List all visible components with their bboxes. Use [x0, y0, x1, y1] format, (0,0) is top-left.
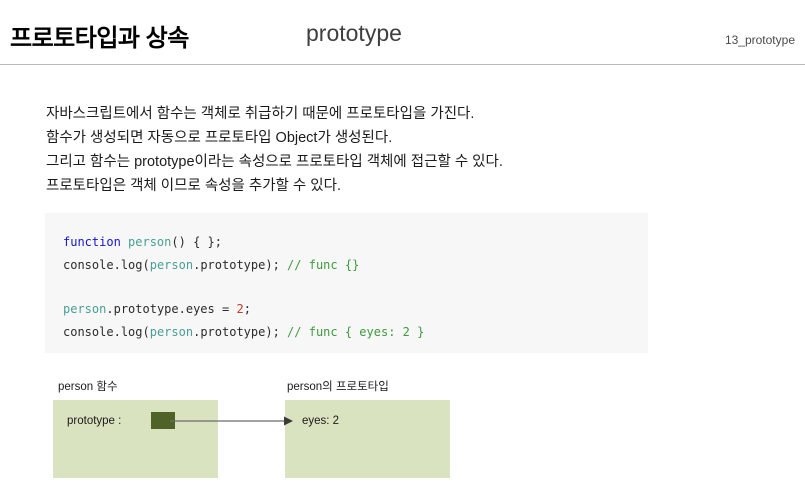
slide-header: 프로토타입과 상속 prototype 13_prototype — [0, 0, 805, 65]
body-text-block: 자바스크립트에서 함수는 객체로 취급하기 때문에 프로토타입을 가진다. 함수… — [46, 102, 726, 198]
code-token-console: console — [63, 258, 114, 272]
code-token-dot: . — [179, 302, 186, 316]
code-token-dot: . — [106, 302, 113, 316]
code-token-property: eyes — [186, 302, 215, 316]
code-token-log: log — [121, 258, 143, 272]
code-token-punct: () { }; — [171, 235, 222, 249]
code-token-object: person — [150, 258, 193, 272]
header-divider — [0, 64, 805, 65]
body-line: 그리고 함수는 prototype이라는 속성으로 프로토타입 객체에 접근할 … — [46, 150, 726, 174]
code-token-keyword: function — [63, 235, 121, 249]
code-line: console.log(person.prototype); // func {… — [63, 254, 648, 277]
code-block: function person() { }; console.log(perso… — [45, 213, 648, 353]
code-token-property: prototype — [200, 258, 265, 272]
diagram-box-prototype-text: eyes: 2 — [302, 415, 339, 427]
body-line: 자바스크립트에서 함수는 객체로 취급하기 때문에 프로토타입을 가진다. — [46, 102, 726, 126]
page-subtitle: prototype — [306, 20, 402, 47]
code-token-function-name: person — [128, 235, 171, 249]
code-token-punct: ( — [143, 258, 150, 272]
code-token-console: console — [63, 325, 114, 339]
code-token-punct: ( — [143, 325, 150, 339]
code-token-object: person — [63, 302, 106, 316]
code-token-punct: ; — [244, 302, 251, 316]
code-token-object: person — [150, 325, 193, 339]
code-token-number: 2 — [236, 302, 243, 316]
diagram-label-function: person 함수 — [58, 378, 118, 394]
code-line: person.prototype.eyes = 2; — [63, 298, 648, 321]
code-token-log: log — [121, 325, 143, 339]
code-line-blank — [63, 277, 648, 298]
prototype-diagram: person 함수 person의 프로토타입 prototype : eyes… — [0, 370, 805, 500]
code-token-punct: ); — [265, 325, 287, 339]
code-line: console.log(person.prototype); // func {… — [63, 321, 648, 344]
code-token-dot: . — [114, 325, 121, 339]
reference-arrow-icon — [170, 410, 295, 432]
code-line: function person() { }; — [63, 231, 648, 254]
code-token-property: prototype — [200, 325, 265, 339]
code-token-property: prototype — [114, 302, 179, 316]
page-title: 프로토타입과 상속 — [10, 18, 189, 53]
code-token-comment: // func {} — [287, 258, 359, 272]
body-line: 함수가 생성되면 자동으로 프로토타입 Object가 생성된다. — [46, 126, 726, 150]
code-token-dot: . — [114, 258, 121, 272]
code-token-space — [121, 235, 128, 249]
code-token-operator: = — [215, 302, 237, 316]
body-line: 프로토타입은 객체 이므로 속성을 추가할 수 있다. — [46, 174, 726, 198]
slide-tag: 13_prototype — [725, 33, 795, 47]
diagram-label-prototype: person의 프로토타입 — [287, 378, 389, 394]
code-token-punct: ); — [265, 258, 287, 272]
diagram-box-prototype — [285, 400, 450, 478]
diagram-box-function-text: prototype : — [67, 415, 121, 427]
code-token-comment: // func { eyes: 2 } — [287, 325, 424, 339]
